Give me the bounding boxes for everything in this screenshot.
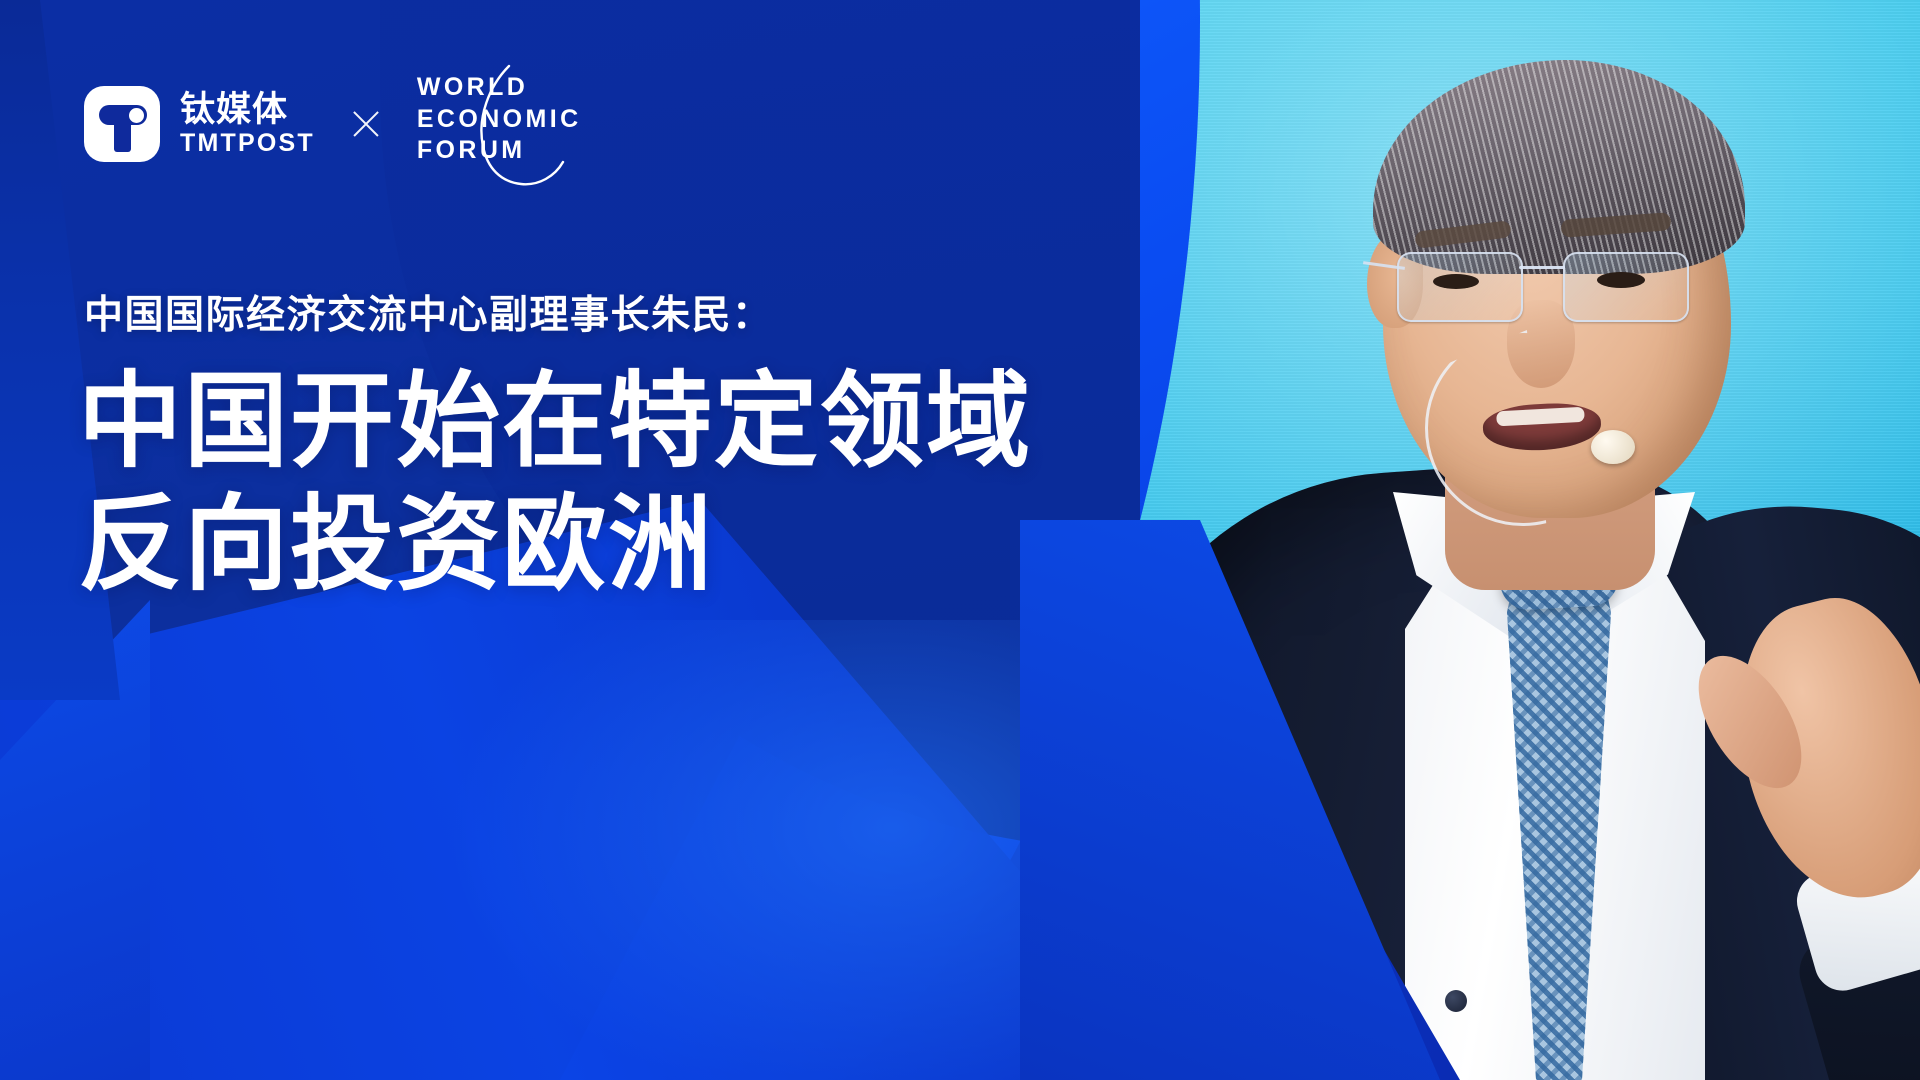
wef-wordmark: WORLD ECONOMIC FORUM bbox=[417, 74, 625, 164]
glasses-icon bbox=[1395, 246, 1715, 330]
world-economic-forum-logo[interactable]: WORLD ECONOMIC FORUM bbox=[417, 74, 625, 174]
tmtpost-name-cn: 钛媒体 bbox=[180, 93, 315, 128]
headline-line-2: 反向投资欧洲 bbox=[78, 483, 1032, 606]
wef-line-2: ECONOMIC bbox=[417, 106, 625, 133]
tmtpost-logo[interactable]: 钛媒体 TMTPOST bbox=[84, 86, 315, 162]
tmtpost-name-en: TMTPOST bbox=[180, 131, 315, 156]
news-card-canvas: 钛媒体 TMTPOST WORLD ECONOMIC FORUM 中国国际经济交… bbox=[0, 0, 1920, 1080]
wef-line-3: FORUM bbox=[417, 137, 625, 164]
tmtpost-wordmark: 钛媒体 TMTPOST bbox=[180, 93, 315, 156]
speaker-eye-right bbox=[1597, 272, 1645, 288]
wef-line-1: WORLD bbox=[417, 74, 625, 101]
logo-row: 钛媒体 TMTPOST WORLD ECONOMIC FORUM bbox=[84, 74, 625, 174]
glasses-bridge bbox=[1519, 266, 1565, 269]
headline-title: 中国开始在特定领域 反向投资欧洲 bbox=[78, 360, 1032, 605]
speaker-eye-left bbox=[1433, 274, 1479, 289]
speaker-suit-button bbox=[1445, 990, 1467, 1012]
microphone-capsule bbox=[1591, 430, 1635, 464]
headline-kicker: 中国国际经济交流中心副理事长朱民： bbox=[84, 284, 773, 340]
logo-t-dot bbox=[129, 108, 144, 123]
logo-t-stem bbox=[114, 108, 131, 152]
headline-line-1: 中国开始在特定领域 bbox=[78, 360, 1032, 483]
tmtpost-t-logo-icon bbox=[84, 86, 160, 162]
logo-separator-x-icon bbox=[349, 107, 383, 141]
